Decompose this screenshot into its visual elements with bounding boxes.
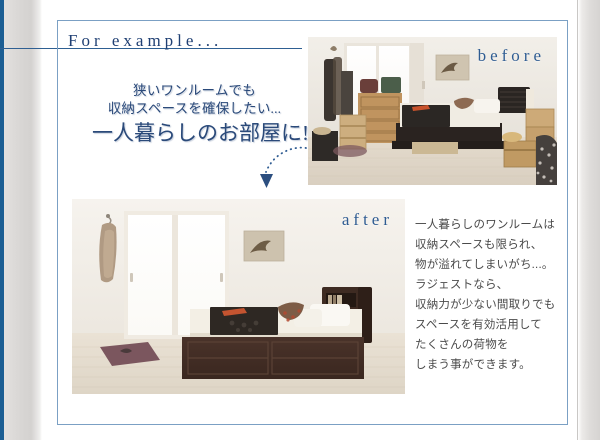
photo-label-after: after xyxy=(342,210,393,230)
description-line-3: 物が溢れてしまいがち...。 xyxy=(415,255,560,275)
description-line-6: スペースを有効活用して xyxy=(415,315,560,335)
page-title: For example... xyxy=(68,31,222,51)
photo-before: before xyxy=(308,37,557,185)
photo-after: after xyxy=(72,199,405,394)
lead-copy-line-1: 狭いワンルームでも xyxy=(92,82,297,100)
description-line-1: 一人暮らしのワンルームは xyxy=(415,215,560,235)
description-line-5: 収納力が少ない間取りでも xyxy=(415,295,560,315)
description-line-8: しまう事ができます。 xyxy=(415,355,560,375)
lead-copy-line-2: 収納スペースを確保したい... xyxy=(92,100,297,118)
description-line-7: たくさんの荷物を xyxy=(415,335,560,355)
description-line-4: ラジェストなら、 xyxy=(415,275,560,295)
lead-copy: 狭いワンルームでも 収納スペースを確保したい... 一人暮らしのお部屋に! xyxy=(92,82,297,147)
page-root: For example... 狭いワンルームでも 収納スペースを確保したい...… xyxy=(0,0,600,440)
description-line-2: 収納スペースも限られ、 xyxy=(415,235,560,255)
photo-label-before: before xyxy=(478,46,545,66)
page-edge-gray-gradient-right xyxy=(578,0,600,440)
description-copy: 一人暮らしのワンルームは 収納スペースも限られ、 物が溢れてしまいがち...。 … xyxy=(415,215,560,375)
dotted-curved-down-arrow-icon xyxy=(232,142,308,194)
page-edge-gray-gradient-left xyxy=(4,0,42,440)
